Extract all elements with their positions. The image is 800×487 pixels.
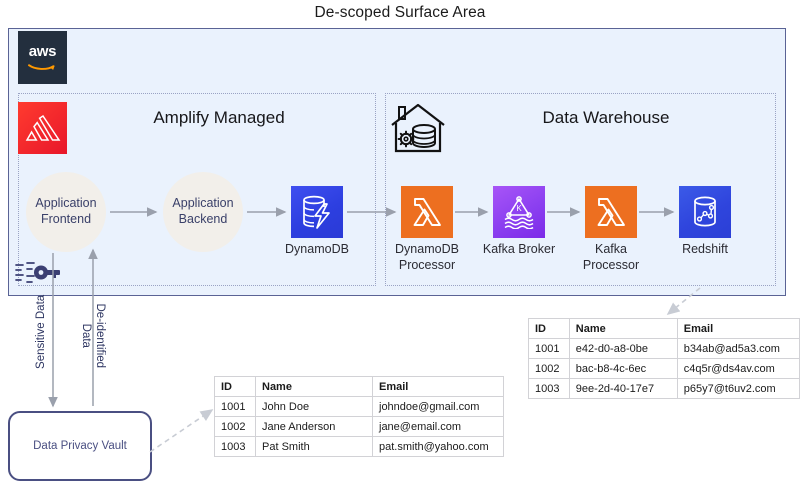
flow-label-deidentified-data: De-identifiedData [78, 291, 106, 381]
column-header-id: ID [215, 377, 256, 397]
cell-id: 1003 [529, 379, 570, 399]
column-header-email: Email [677, 319, 799, 339]
table-row: 1001 John Doe johndoe@gmail.com [215, 397, 504, 417]
aws-smile-icon [28, 60, 58, 71]
table-row: 1003 9ee-2d-40-17e7 p65y7@t6uv2.com [529, 379, 800, 399]
service-kafka-broker-label: Kafka Broker [471, 242, 567, 258]
data-warehouse-icon [389, 101, 447, 155]
aws-logo: aws [18, 31, 67, 84]
cell-id: 1002 [529, 359, 570, 379]
table-header-row: ID Name Email [215, 377, 504, 397]
cell-email: b34ab@ad5a3.com [677, 339, 799, 359]
amplify-logo [18, 102, 67, 154]
table-row: 1002 bac-b8-4c-6ec c4q5r@ds4av.com [529, 359, 800, 379]
cell-name: Jane Anderson [256, 417, 373, 437]
cell-id: 1002 [215, 417, 256, 437]
data-privacy-vault[interactable]: Data Privacy Vault [8, 411, 152, 481]
cell-email: pat.smith@yahoo.com [373, 437, 504, 457]
cell-email: jane@email.com [373, 417, 504, 437]
column-header-name: Name [256, 377, 373, 397]
table-row: 1001 e42-d0-a8-0be b34ab@ad5a3.com [529, 339, 800, 359]
service-kafka-broker[interactable]: K Kafka Broker [493, 186, 545, 238]
column-header-email: Email [373, 377, 504, 397]
page-title: De-scoped Surface Area [0, 4, 800, 22]
service-redshift[interactable]: Redshift [679, 186, 731, 238]
column-header-name: Name [569, 319, 677, 339]
flow-label-sensitive-data: Sensitive Data [35, 287, 49, 377]
table-header-row: ID Name Email [529, 319, 800, 339]
deidentified-data-table: ID Name Email 1001 e42-d0-a8-0be b34ab@a… [528, 318, 800, 399]
redshift-icon [679, 186, 731, 238]
table-row: 1002 Jane Anderson jane@email.com [215, 417, 504, 437]
dynamodb-icon [291, 186, 343, 238]
aws-wordmark: aws [29, 44, 56, 59]
service-dynamodb-processor[interactable]: DynamoDBProcessor [401, 186, 453, 238]
cell-email: p65y7@t6uv2.com [677, 379, 799, 399]
service-dynamodb-label: DynamoDB [269, 242, 365, 258]
data-privacy-vault-label: Data Privacy Vault [33, 440, 127, 452]
cell-name: John Doe [256, 397, 373, 417]
kafka-icon: K [493, 186, 545, 238]
amplify-a-icon [25, 114, 61, 142]
table-row: 1003 Pat Smith pat.smith@yahoo.com [215, 437, 504, 457]
service-redshift-label: Redshift [657, 242, 753, 258]
node-application-backend[interactable]: Application Backend [163, 172, 243, 252]
group-data-warehouse-title: Data Warehouse [446, 108, 766, 128]
cell-name: 9ee-2d-40-17e7 [569, 379, 677, 399]
node-application-frontend[interactable]: Application Frontend [26, 172, 106, 252]
group-amplify-title: Amplify Managed [79, 108, 359, 128]
arrow-vault-to-sensitive-table [150, 410, 212, 452]
diagram-canvas: De-scoped Surface Area aws Amplify Manag… [0, 0, 800, 487]
service-kafka-processor-label: KafkaProcessor [563, 242, 659, 273]
lambda-icon [401, 186, 453, 238]
cell-name: Pat Smith [256, 437, 373, 457]
sensitive-data-table: ID Name Email 1001 John Doe johndoe@gmai… [214, 376, 504, 457]
svg-text:K: K [516, 204, 522, 213]
cell-email: johndoe@gmail.com [373, 397, 504, 417]
service-kafka-processor[interactable]: KafkaProcessor [585, 186, 637, 238]
cell-email: c4q5r@ds4av.com [677, 359, 799, 379]
service-dynamodb-processor-label: DynamoDBProcessor [379, 242, 475, 273]
cell-id: 1001 [215, 397, 256, 417]
lambda-icon [585, 186, 637, 238]
node-application-backend-label: Application Backend [172, 196, 233, 227]
node-application-frontend-label: Application Frontend [35, 196, 96, 227]
cell-id: 1001 [529, 339, 570, 359]
cell-name: bac-b8-4c-6ec [569, 359, 677, 379]
column-header-id: ID [529, 319, 570, 339]
cell-id: 1003 [215, 437, 256, 457]
key-icon [14, 260, 62, 286]
cell-name: e42-d0-a8-0be [569, 339, 677, 359]
service-dynamodb[interactable]: DynamoDB [291, 186, 343, 238]
